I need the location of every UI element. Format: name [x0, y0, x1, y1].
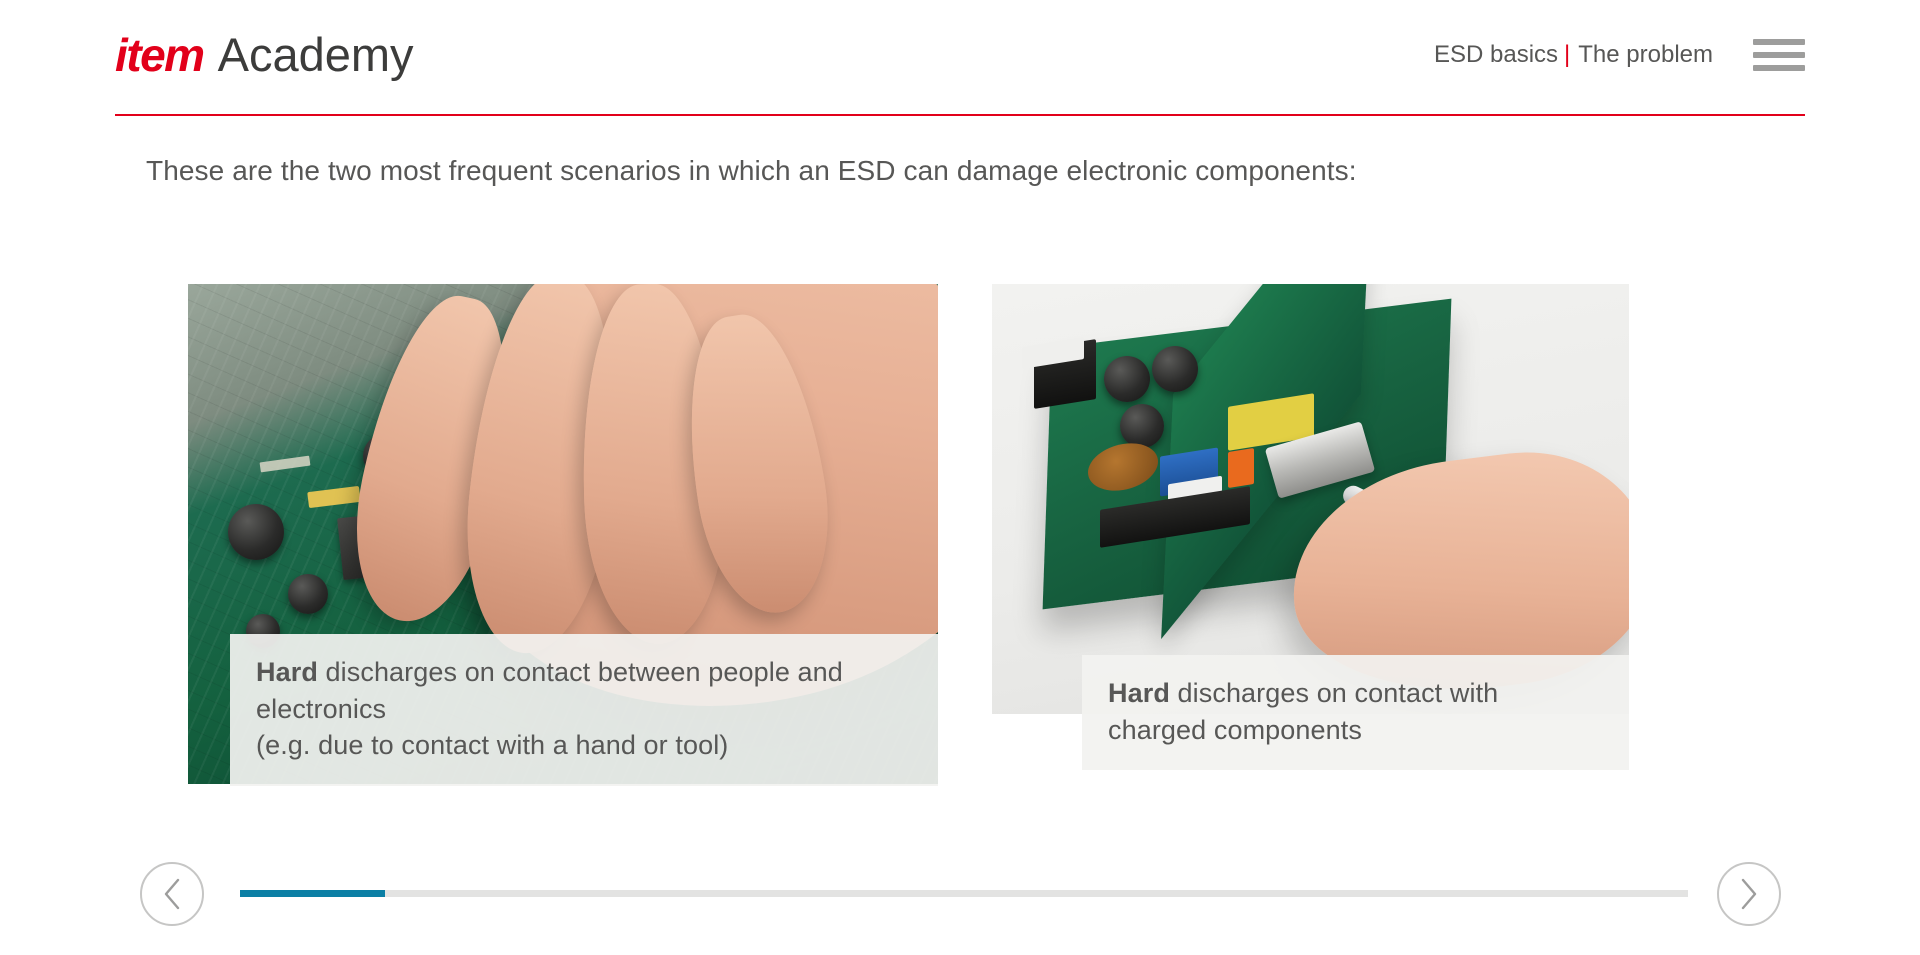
capacitor-graphic — [288, 574, 328, 614]
page-root: item Academy ESD basics | The problem Th… — [0, 0, 1920, 955]
nav-separator: | — [1564, 41, 1570, 69]
caption-1-bold: Hard — [256, 657, 318, 687]
capacitor-graphic — [1152, 346, 1198, 392]
capacitor-graphic — [1104, 356, 1150, 402]
header-navigation: ESD basics | The problem — [1434, 35, 1805, 75]
carousel-progress-fill — [240, 890, 385, 897]
nav-link-esd-basics[interactable]: ESD basics — [1434, 41, 1558, 69]
intro-text: These are the two most frequent scenario… — [146, 155, 1357, 187]
scenario-caption-2: Hard discharges on contact with charged … — [1082, 655, 1629, 770]
brand-academy-text: Academy — [218, 27, 414, 82]
brand-logo[interactable]: item Academy — [115, 27, 414, 82]
hamburger-menu-icon[interactable] — [1753, 35, 1805, 75]
carousel-next-button[interactable] — [1717, 862, 1781, 926]
capacitor-graphic — [228, 504, 284, 560]
header-inner: item Academy ESD basics | The problem — [115, 0, 1805, 116]
caption-1-line3: (e.g. due to contact with a hand or tool… — [256, 730, 728, 760]
scenario-caption-1: Hard discharges on contact between peopl… — [230, 634, 938, 786]
carousel-prev-button[interactable] — [140, 862, 204, 926]
scenario-card-2 — [992, 284, 1629, 714]
chevron-right-icon — [1738, 877, 1760, 911]
caption-2-bold: Hard — [1108, 678, 1170, 708]
caption-1-rest: discharges on contact between people and… — [256, 657, 843, 724]
nav-link-the-problem[interactable]: The problem — [1578, 41, 1713, 69]
capacitor-graphic — [1120, 404, 1164, 448]
orange-component-graphic — [1228, 448, 1254, 488]
carousel-progress-track[interactable] — [240, 890, 1688, 897]
chevron-left-icon — [161, 877, 183, 911]
brand-item-text: item — [115, 28, 204, 82]
scenario-image-2 — [992, 284, 1629, 714]
site-header: item Academy ESD basics | The problem — [0, 0, 1920, 118]
